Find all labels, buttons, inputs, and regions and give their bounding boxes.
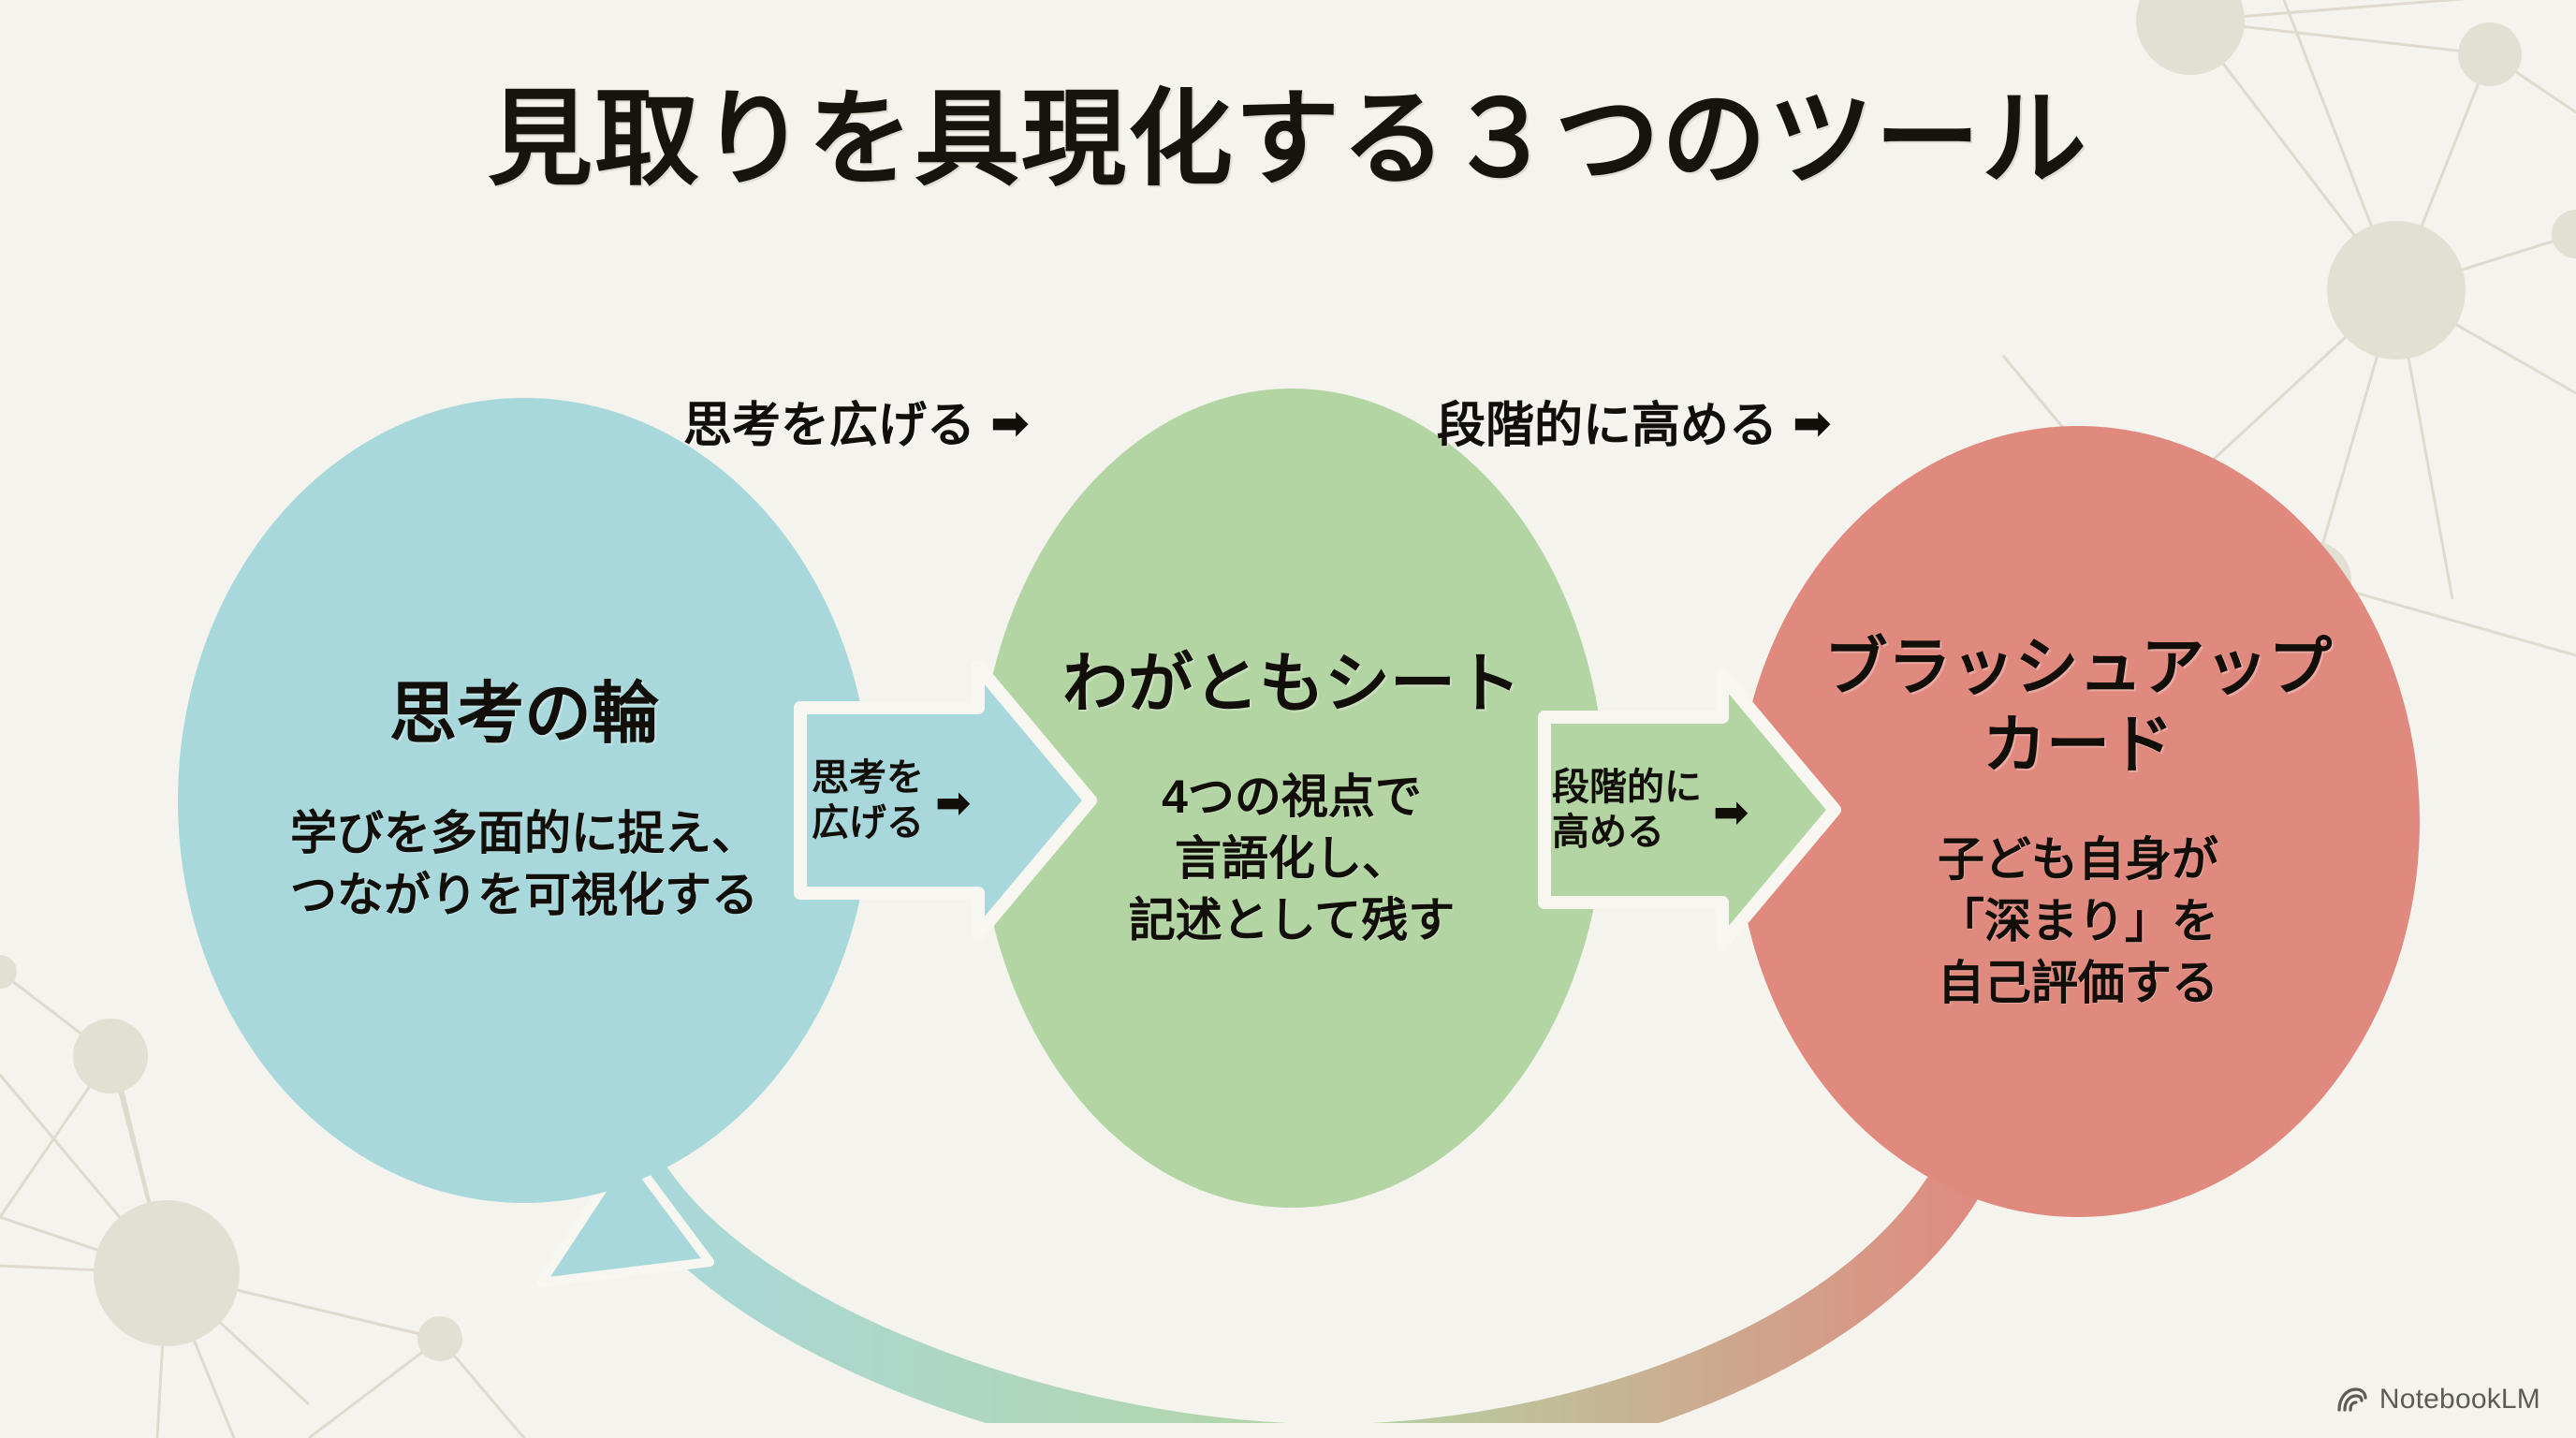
node-description: 学びを多面的に捉え、 つながりを可視化する bbox=[290, 802, 758, 926]
notebooklm-watermark-text: NotebookLM bbox=[2379, 1384, 2540, 1416]
node-title: ブラッシュアップ カード bbox=[1824, 629, 2333, 785]
transition-arrow-2-label: 段階的に 高める bbox=[1552, 765, 1702, 855]
arrow-right-icon: ➡ bbox=[1793, 400, 1832, 447]
node-title: わがともシート bbox=[1062, 645, 1521, 723]
transition-arrow-2[interactable]: 段階的に 高める ➡ bbox=[1535, 655, 1844, 964]
transition-arrow-1-label: 思考を 広げる bbox=[812, 756, 924, 845]
arrow-right-icon: ➡ bbox=[1713, 790, 1749, 833]
transition-arrow-1-label-group: 思考を 広げる ➡ bbox=[812, 756, 972, 845]
node-description: 4つの視点で 言語化し、 記述として残す bbox=[1129, 766, 1456, 951]
notebooklm-watermark: NotebookLM bbox=[2336, 1384, 2540, 1416]
transition-arrow-2-label-group: 段階的に 高める ➡ bbox=[1552, 765, 1749, 855]
notebooklm-spiral-icon bbox=[2336, 1387, 2368, 1413]
top-caption-1-text: 思考を広げる bbox=[683, 386, 975, 456]
arrow-right-icon: ➡ bbox=[935, 781, 972, 824]
three-tools-diagram: 思考の輪 学びを多面的に捉え、 つながりを可視化する わがともシート 4つの視点… bbox=[0, 0, 2576, 1438]
node-description: 子ども自身が 「深まり」を 自己評価する bbox=[1938, 829, 2218, 1014]
top-caption-2-text: 段階的に高める bbox=[1437, 386, 1778, 456]
tool-node-thinking-circle[interactable]: 思考の輪 学びを多面的に捉え、 つながりを可視化する bbox=[178, 398, 871, 1203]
node-title: 思考の輪 bbox=[389, 675, 659, 755]
transition-arrow-1[interactable]: 思考を 広げる ➡ bbox=[791, 646, 1100, 955]
slide-canvas: 見取りを具現化する３つのツール 思考の輪 学びを多面的に捉え、 つながりを可視化… bbox=[0, 0, 2576, 1438]
top-caption-1: 思考を広げる ➡ bbox=[683, 386, 1030, 456]
arrow-right-icon: ➡ bbox=[990, 400, 1030, 447]
top-caption-2: 段階的に高める ➡ bbox=[1437, 386, 1832, 456]
